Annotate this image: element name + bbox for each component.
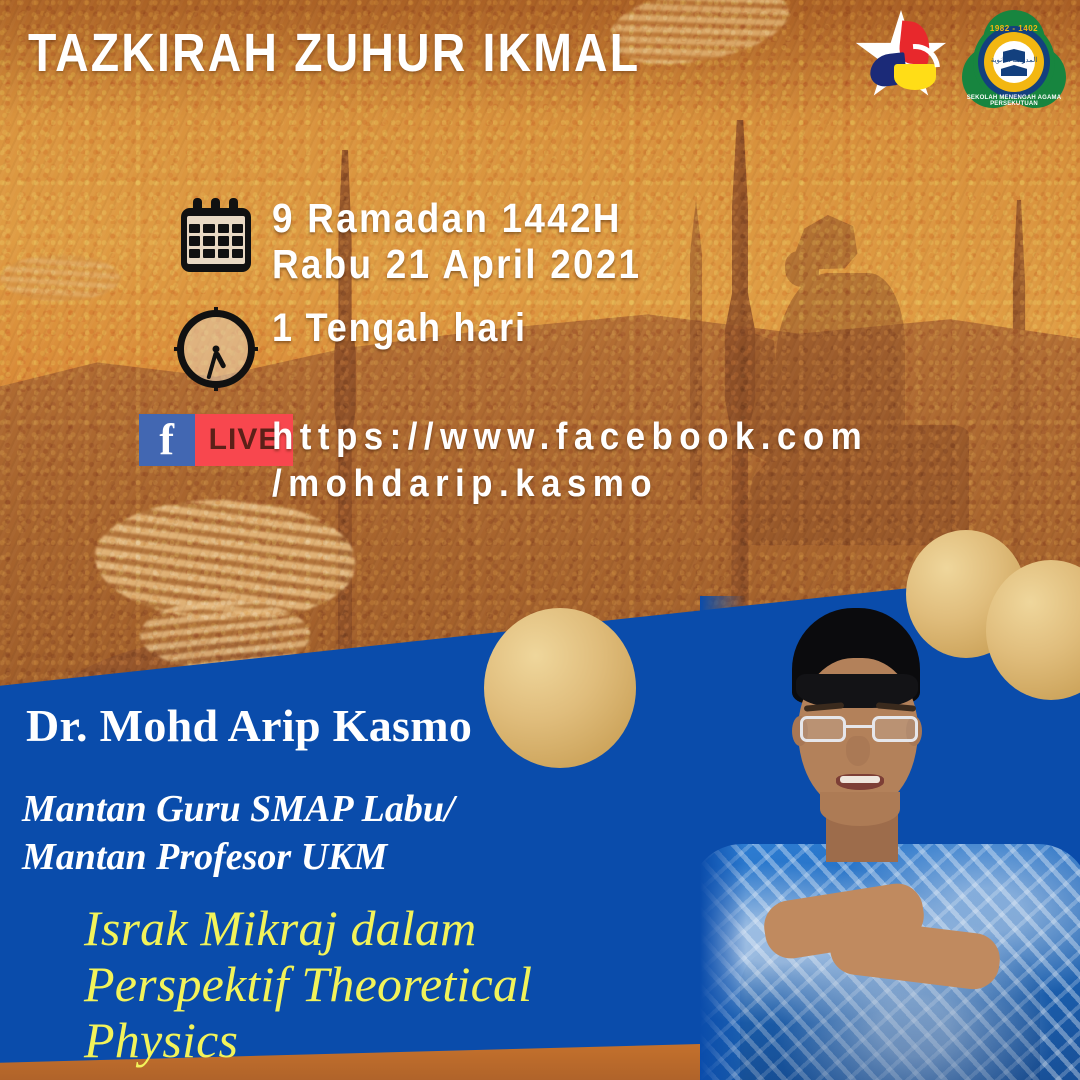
- facebook-live-badge[interactable]: f LIVE: [139, 414, 294, 466]
- facebook-icon[interactable]: f: [139, 414, 195, 466]
- chin: [820, 792, 900, 826]
- talk-title: Israk Mikraj dalam Perspektif Theoretica…: [84, 900, 532, 1068]
- speaker-role: Mantan Guru SMAP Labu/ Mantan Profesor U…: [22, 786, 455, 882]
- url-text-block[interactable]: https://www.facebook.com /mohdarip.kasmo: [272, 414, 868, 509]
- time-text: 1 Tengah hari: [272, 306, 527, 350]
- emblem-arabic-label: المدرسة الثانوية: [962, 56, 1066, 64]
- nose: [846, 736, 870, 766]
- facebook-f-glyph: f: [139, 414, 195, 466]
- gold-circle-decoration: [484, 608, 636, 768]
- facebook-url-line2[interactable]: /mohdarip.kasmo: [272, 461, 868, 509]
- facebook-url-line1[interactable]: https://www.facebook.com: [272, 414, 868, 462]
- speaker-name: Dr. Mohd Arip Kasmo: [26, 703, 472, 749]
- facebook-live-slot: f LIVE: [160, 414, 272, 466]
- time-text-block: 1 Tengah hari: [272, 306, 527, 350]
- speaker-portrait-photo: [700, 596, 1080, 1080]
- clock-icon-slot: [160, 306, 272, 388]
- date-text-block: 9 Ramadan 1442H Rabu 21 April 2021: [272, 196, 641, 288]
- calendar-icon: [179, 200, 253, 274]
- emblem-ring-label: SEKOLAH MENENGAH AGAMA PERSEKUTUAN: [962, 95, 1066, 107]
- portrait-left-fade: [700, 596, 746, 1080]
- logo-group: 1982 - 1402 المدرسة الثانوية SEKOLAH MEN…: [854, 10, 1066, 114]
- detail-row-date: 9 Ramadan 1442H Rabu 21 April 2021: [160, 196, 1080, 288]
- ikmal-star-logo-icon: [854, 10, 948, 104]
- school-emblem-icon: 1982 - 1402 المدرسة الثانوية SEKOLAH MEN…: [962, 10, 1066, 114]
- date-hijri-text: 9 Ramadan 1442H: [272, 196, 641, 242]
- emblem-years-label: 1982 - 1402: [962, 24, 1066, 33]
- calendar-icon-slot: [160, 196, 272, 274]
- songkok-brim: [796, 674, 918, 708]
- mouth: [836, 774, 884, 790]
- event-details-list: 9 Ramadan 1442H Rabu 21 April 2021 1 Ten…: [160, 196, 1080, 525]
- page-title: TAZKIRAH ZUHUR IKMAL: [28, 22, 640, 84]
- detail-row-time: 1 Tengah hari: [160, 306, 1080, 388]
- detail-row-link: f LIVE https://www.facebook.com /mohdari…: [160, 414, 1080, 509]
- date-gregorian-text: Rabu 21 April 2021: [272, 242, 641, 288]
- poster-canvas: TAZKIRAH ZUHUR IKMAL 1982 - 1402 المدرسة…: [0, 0, 1080, 1080]
- sand-brush-stroke: [0, 255, 120, 301]
- clock-icon: [177, 310, 255, 388]
